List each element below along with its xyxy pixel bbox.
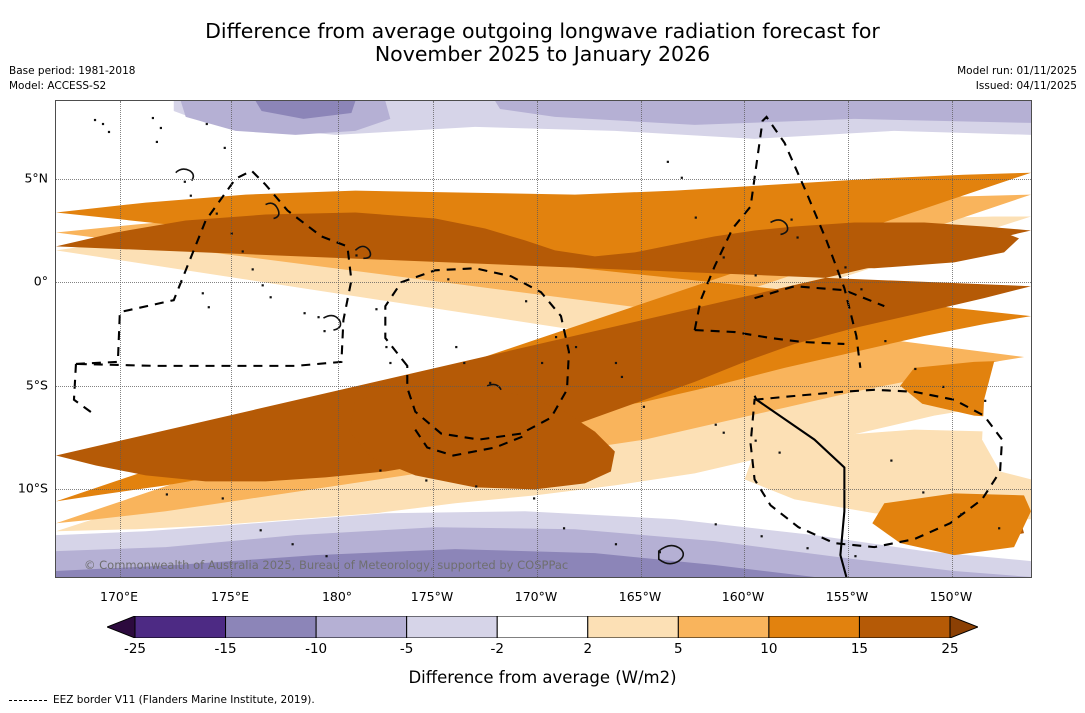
coastline-marker (621, 376, 623, 378)
x-tick-label: 165°W (619, 589, 661, 604)
dashed-line-icon (9, 700, 47, 701)
coastline-marker (563, 527, 565, 529)
coastline-marker (844, 266, 846, 268)
colorbar-segment (226, 616, 317, 638)
eez-legend-label: EEZ border V11 (Flanders Marine Institut… (53, 694, 315, 706)
coastline-marker (667, 161, 669, 163)
coastline-marker (208, 306, 210, 308)
colorbar-segment (588, 616, 679, 638)
coastline-marker (681, 177, 683, 179)
coastline-marker (184, 181, 186, 183)
coastline-marker (323, 330, 325, 332)
coastline-marker (389, 362, 391, 364)
coastline-marker (984, 400, 986, 402)
colorbar-segment (769, 616, 860, 638)
coastline-marker (761, 535, 763, 537)
colorbar-segment (316, 616, 407, 638)
coastline-marker (242, 250, 244, 252)
y-tick-label: 5°N (24, 171, 48, 186)
metadata-left: Base period: 1981-2018 Model: ACCESS-S2 (9, 64, 135, 93)
coastline-marker (555, 336, 557, 338)
coastline-marker (455, 346, 457, 348)
colorbar-tick-label: 5 (674, 641, 683, 657)
colorbar-tick-label: 15 (851, 641, 868, 657)
coastline-marker (723, 432, 725, 434)
coastline-marker (715, 523, 717, 525)
coastline-marker (292, 543, 294, 545)
coastline-marker (252, 268, 254, 270)
colorbar-tick-label: 2 (583, 641, 592, 657)
page-title: Difference from average outgoing longwav… (0, 20, 1085, 66)
x-tick-label: 160°W (722, 589, 764, 604)
y-tick-label: 10°S (18, 481, 48, 496)
coastline-marker (890, 459, 892, 461)
coastline-marker (206, 123, 208, 125)
issued-text: Issued: 04/11/2025 (957, 79, 1077, 94)
colorbar-tick-label: -15 (215, 641, 237, 657)
coastline-marker (108, 131, 110, 133)
coastline-marker (475, 485, 477, 487)
coastline-marker (575, 346, 577, 348)
coastline-marker (379, 469, 381, 471)
coastline-marker (303, 312, 305, 314)
coastline-marker (854, 555, 856, 557)
coastline-marker (425, 479, 427, 481)
colorbar-segment (135, 616, 226, 638)
model-text: Model: ACCESS-S2 (9, 79, 135, 94)
coastline-marker (202, 292, 204, 294)
coastline-marker (447, 278, 449, 280)
coastline-marker (222, 497, 224, 499)
colorbar-tick-label: 25 (941, 641, 958, 657)
coastline-marker (723, 256, 725, 258)
coastline-marker (695, 217, 697, 219)
forecast-map-page: Difference from average outgoing longwav… (0, 0, 1085, 713)
coastline-marker (533, 497, 535, 499)
coastline-marker (942, 386, 944, 388)
coastline-marker (860, 288, 862, 290)
coastline-marker (385, 346, 387, 348)
y-tick-label: 0° (34, 274, 48, 289)
x-tick-label: 175°W (411, 589, 453, 604)
colorbar-segment (407, 616, 498, 638)
colorbar-tick-label: -2 (490, 641, 503, 657)
coastline-marker (922, 491, 924, 493)
colorbar-tick-label: -25 (124, 641, 146, 657)
coastline-marker (224, 147, 226, 149)
colorbar-tick-label: -10 (305, 641, 327, 657)
coastline-marker (375, 308, 377, 310)
x-tick-label: 155°W (826, 589, 868, 604)
colorbar[interactable] (107, 616, 978, 638)
coastline-marker (796, 236, 798, 238)
coastline-marker (325, 555, 327, 557)
coastline-marker (541, 362, 543, 364)
colorbar-segment (497, 616, 588, 638)
coastline-marker (152, 117, 154, 119)
coastline-marker (960, 513, 962, 515)
colorbar-segment (678, 616, 769, 638)
x-tick-label: 180° (322, 589, 352, 604)
x-tick-label: 175°E (211, 589, 249, 604)
coastline-marker (643, 406, 645, 408)
coastline-marker (755, 274, 757, 276)
coastline-marker (525, 300, 527, 302)
colorbar-extend-low (107, 616, 135, 638)
coastline-marker (260, 529, 262, 531)
colorbar-segment (859, 616, 950, 638)
coastline-marker (715, 424, 717, 426)
coastline-marker (615, 543, 617, 545)
coastline-marker (755, 440, 757, 442)
colorbar-extend-high (950, 616, 978, 638)
map-plot-area[interactable]: © Commonwealth of Australia 2025, Bureau… (55, 100, 1032, 578)
coastline-marker (790, 219, 792, 221)
coastline-marker (998, 527, 1000, 529)
coastline-marker (262, 284, 264, 286)
footer-legend: EEZ border V11 (Flanders Marine Institut… (9, 694, 315, 706)
coastline-marker (231, 232, 233, 234)
coastline-marker (166, 493, 168, 495)
coastline-marker (355, 254, 357, 256)
coastline-marker (914, 368, 916, 370)
x-tick-label: 150°W (930, 589, 972, 604)
colorbar-tick-label: 10 (760, 641, 777, 657)
contour-map (56, 101, 1031, 577)
coastline-marker (463, 362, 465, 364)
coastline-marker (190, 195, 192, 197)
coastline-marker (156, 141, 158, 143)
colorbar-tick-label: -5 (400, 641, 413, 657)
base-period-text: Base period: 1981-2018 (9, 64, 135, 79)
coastline-marker (270, 296, 272, 298)
coastline-marker (216, 213, 218, 215)
colorbar-label: Difference from average (W/m2) (0, 668, 1085, 687)
model-run-text: Model run: 01/11/2025 (957, 64, 1077, 79)
coastline-marker (779, 452, 781, 454)
coastline-marker (94, 119, 96, 121)
metadata-right: Model run: 01/11/2025 Issued: 04/11/2025 (957, 64, 1077, 93)
colorbar-swatches (107, 616, 978, 638)
coastline-marker (317, 316, 319, 318)
coastline-marker (160, 127, 162, 129)
coastline-marker (615, 362, 617, 364)
x-tick-label: 170°W (515, 589, 557, 604)
x-tick-label: 170°E (100, 589, 138, 604)
coastline-marker (884, 340, 886, 342)
coastline-marker (489, 382, 491, 384)
y-tick-label: 5°S (26, 378, 48, 393)
coastline-marker (806, 547, 808, 549)
coastline-marker (102, 123, 104, 125)
